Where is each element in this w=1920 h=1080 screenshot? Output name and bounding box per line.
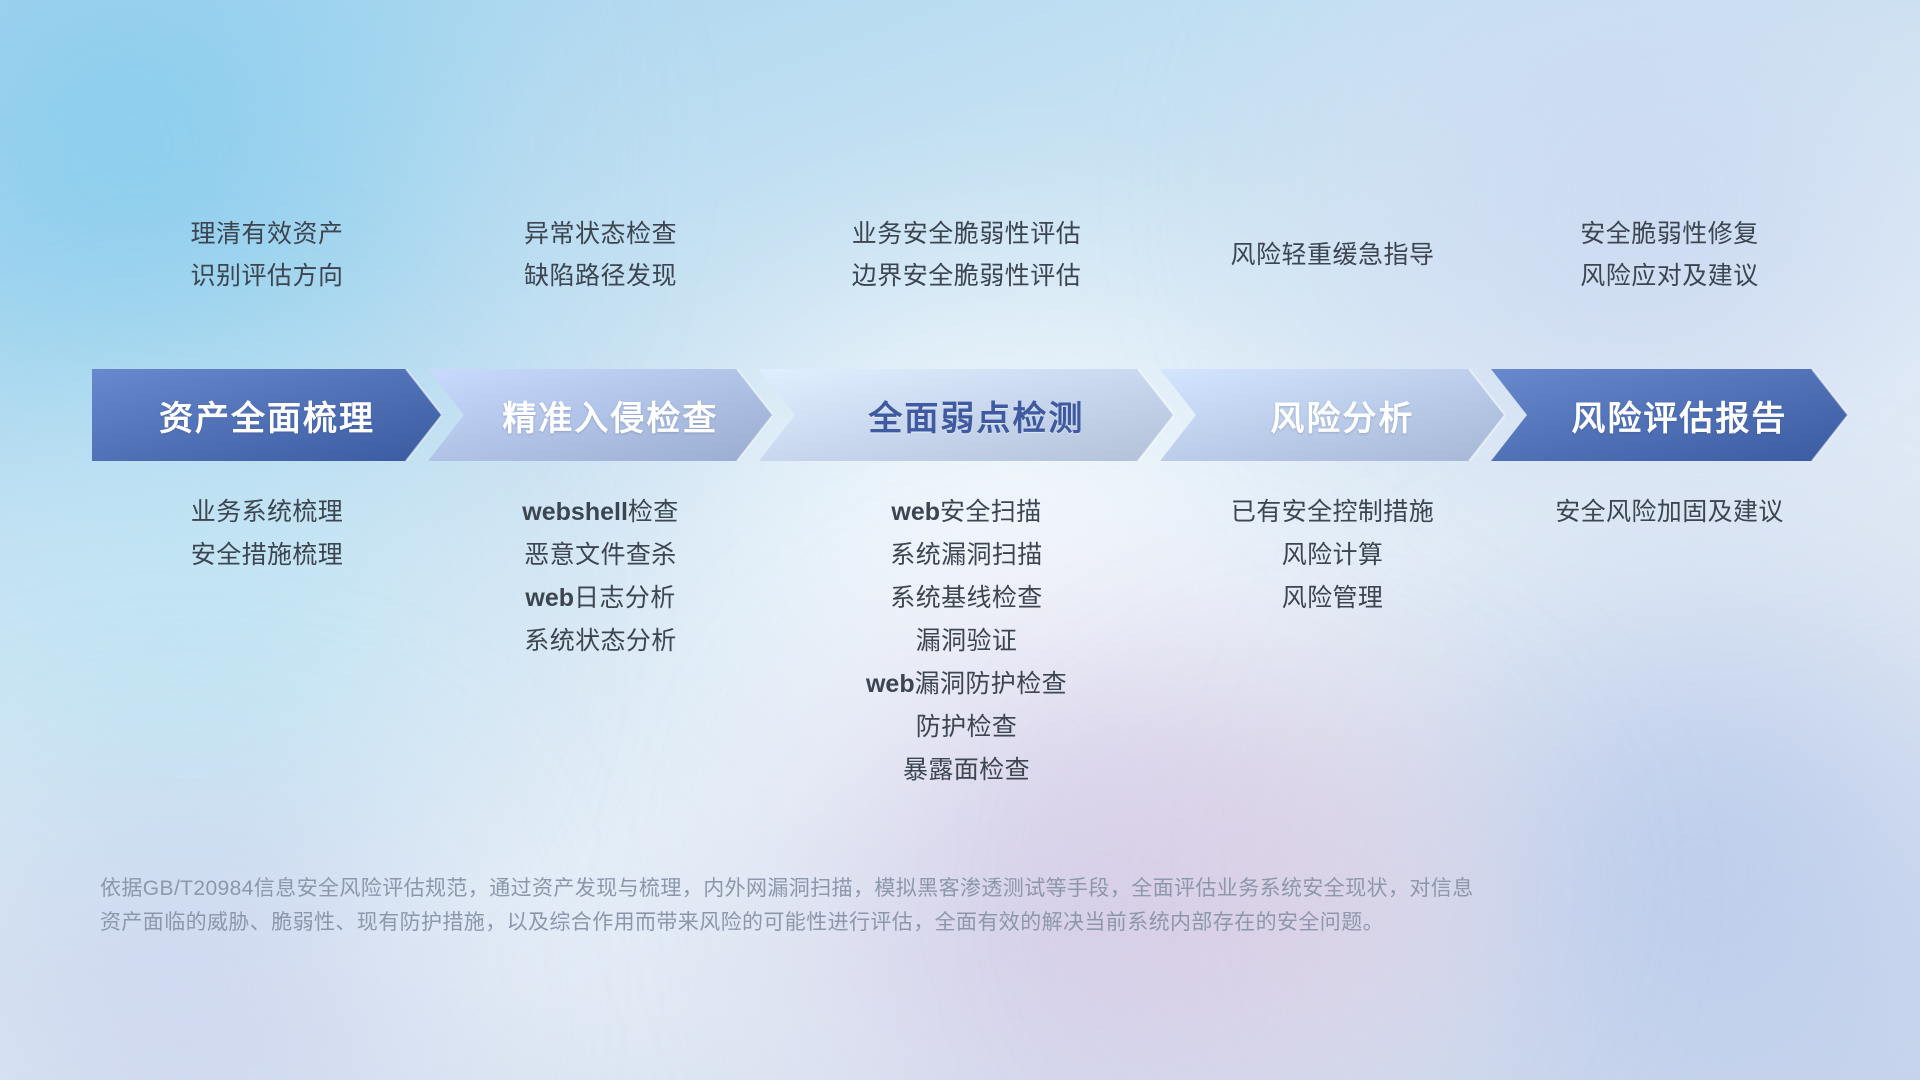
outcome-item: 安全脆弱性修复 (1580, 222, 1759, 247)
process-step-label: 风险评估报告 (1571, 391, 1787, 440)
activity-item-text: 漏洞防护检查 (915, 670, 1067, 698)
process-step-risk-analysis[interactable]: 风险分析 (1160, 369, 1505, 461)
stage-outcomes-assessment-report: 安全脆弱性修复风险应对及建议 (1350, 222, 1920, 289)
activity-item: web漏洞防护检查 (866, 672, 1067, 697)
process-step-label: 全面弱点检测 (868, 391, 1084, 440)
activity-item: 暴露面检查 (903, 758, 1030, 783)
process-step-assessment-report[interactable]: 风险评估报告 (1491, 369, 1848, 461)
activity-item-latin: web (891, 498, 940, 526)
footer-description: 依据GB/T20984信息安全风险评估规范，通过资产发现与梳理，内外网漏洞扫描，… (100, 872, 1740, 940)
activity-item: 防护检查 (916, 715, 1018, 740)
process-chevron-band: 资产全面梳理精准入侵检查全面弱点检测风险分析风险评估报告 (92, 369, 1904, 461)
activity-item: 风险管理 (1282, 586, 1384, 611)
activity-item-latin: web (525, 584, 574, 612)
footer-line-2: 资产面临的威胁、脆弱性、现有防护措施，以及综合作用而带来风险的可能性进行评估，全… (100, 906, 1740, 940)
activity-item: 安全风险加固及建议 (1555, 500, 1784, 525)
process-step-label: 风险分析 (1270, 391, 1414, 440)
activity-item-latin: webshell (522, 498, 628, 526)
activity-item: 风险计算 (1282, 543, 1384, 568)
process-step-label: 资产全面梳理 (159, 391, 375, 440)
activity-item: 漏洞验证 (916, 629, 1018, 654)
process-diagram: 理清有效资产识别评估方向异常状态检查缺陷路径发现业务安全脆弱性评估边界安全脆弱性… (0, 0, 1920, 1080)
process-step-weakness-detection[interactable]: 全面弱点检测 (759, 369, 1174, 461)
process-step-intrusion-check[interactable]: 精准入侵检查 (428, 369, 773, 461)
stage-activities-assessment-report: 安全风险加固及建议 (1350, 500, 1920, 525)
activity-item-latin: web (866, 670, 915, 698)
footer-line-1: 依据GB/T20984信息安全风险评估规范，通过资产发现与梳理，内外网漏洞扫描，… (100, 872, 1740, 906)
process-step-label: 精准入侵检查 (502, 391, 718, 440)
outcome-item: 风险应对及建议 (1580, 264, 1759, 289)
process-step-asset-inventory[interactable]: 资产全面梳理 (92, 369, 442, 461)
